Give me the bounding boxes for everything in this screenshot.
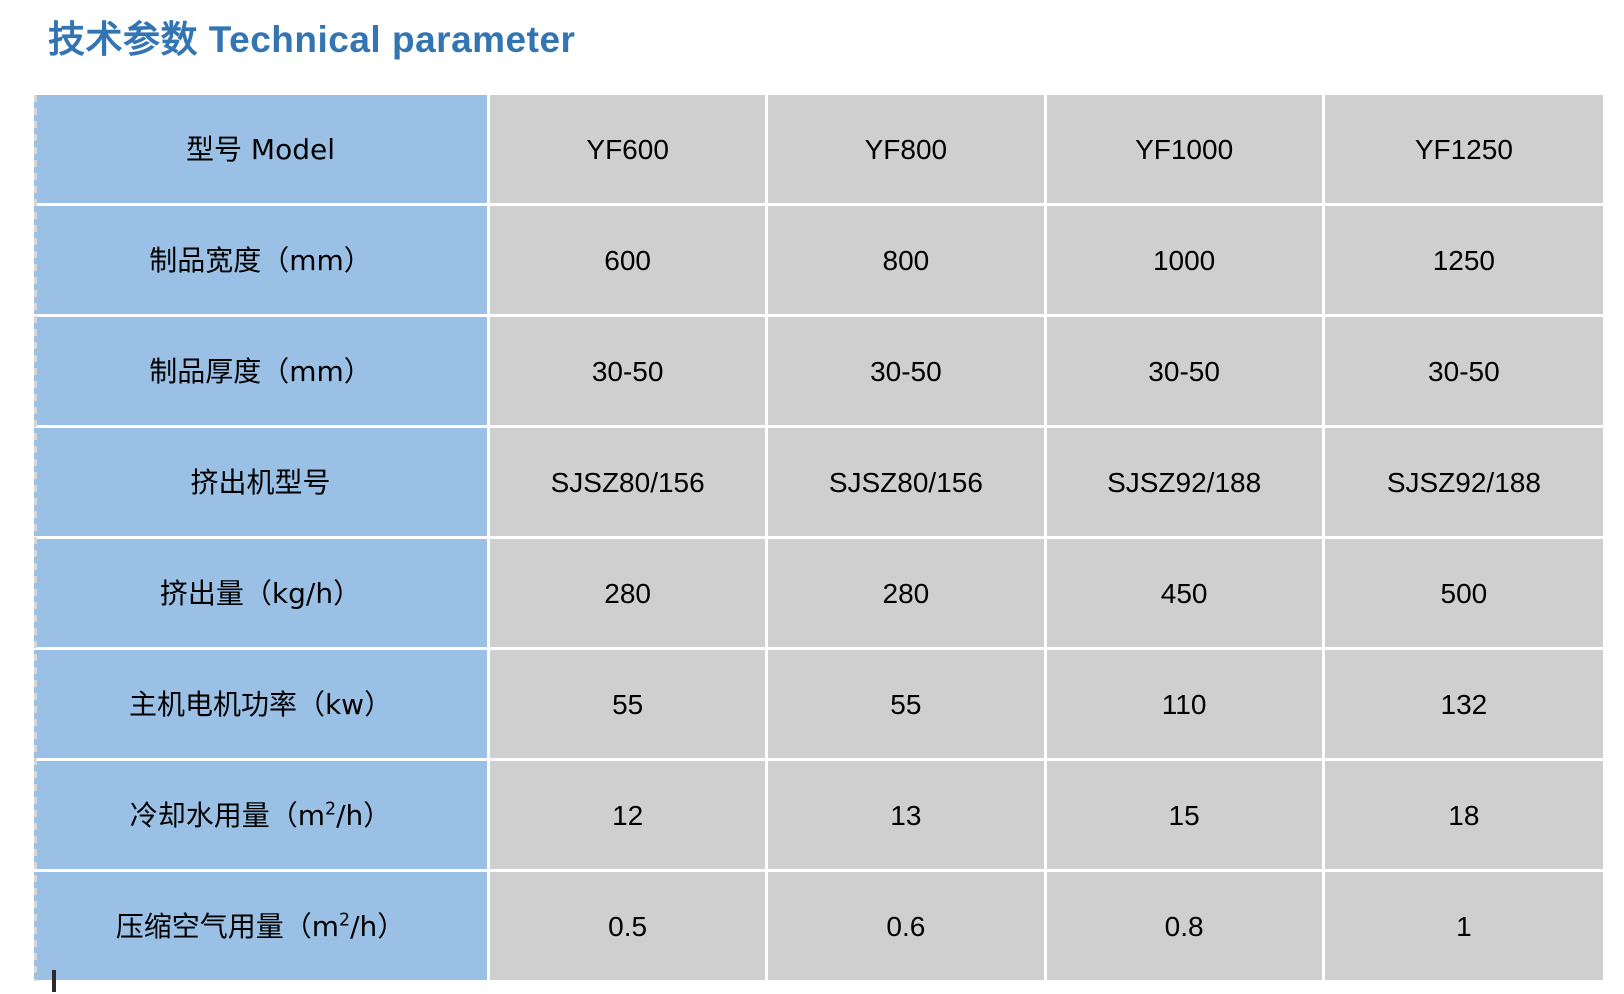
value-text: 600 <box>604 245 651 276</box>
slide-canvas: 技术参数 Technical parameter 型号 ModelYF600YF… <box>0 0 1624 994</box>
row-label-superscript: 2 <box>339 910 350 930</box>
value-text: 0.5 <box>608 911 647 942</box>
row-label-cell: 挤出量（kg/h） <box>34 539 490 650</box>
value-cell: SJSZ92/188 <box>1325 428 1603 539</box>
value-text: SJSZ80/156 <box>551 467 705 498</box>
value-cell: 280 <box>490 539 768 650</box>
table-row: 挤出机型号SJSZ80/156SJSZ80/156SJSZ92/188SJSZ9… <box>34 428 1603 539</box>
page-title: 技术参数 Technical parameter <box>48 18 575 62</box>
value-cell: SJSZ80/156 <box>768 428 1046 539</box>
value-cell: 600 <box>490 206 768 317</box>
row-label-text: 制品厚度（mm） <box>149 355 372 388</box>
value-text: 30-50 <box>1428 356 1500 387</box>
row-label-text-suffix: /h） <box>350 910 405 943</box>
value-text: 30-50 <box>1148 356 1220 387</box>
value-cell: 1250 <box>1325 206 1603 317</box>
row-label-text: 挤出机型号 <box>191 466 331 499</box>
technical-parameter-table-wrapper: 型号 ModelYF600YF800YF1000YF1250制品宽度（mm）60… <box>34 95 1603 983</box>
value-text: YF1000 <box>1135 134 1233 165</box>
row-label-cell: 型号 Model <box>34 95 490 206</box>
row-label-cell: 主机电机功率（kw） <box>34 650 490 761</box>
row-label-cell: 冷却水用量（m2/h） <box>34 761 490 872</box>
value-cell: 55 <box>490 650 768 761</box>
page-title-english: Technical parameter <box>209 19 576 60</box>
value-cell: 12 <box>490 761 768 872</box>
row-label-cell: 制品宽度（mm） <box>34 206 490 317</box>
table-body: 型号 ModelYF600YF800YF1000YF1250制品宽度（mm）60… <box>34 95 1603 983</box>
value-text: SJSZ80/156 <box>829 467 983 498</box>
table-row: 型号 ModelYF600YF800YF1000YF1250 <box>34 95 1603 206</box>
value-text: 15 <box>1169 800 1200 831</box>
value-text: 55 <box>612 689 643 720</box>
row-label-cell: 压缩空气用量（m2/h） <box>34 872 490 983</box>
value-cell: 13 <box>768 761 1046 872</box>
table-row: 制品厚度（mm）30-5030-5030-5030-50 <box>34 317 1603 428</box>
table-row: 制品宽度（mm）60080010001250 <box>34 206 1603 317</box>
row-label-superscript: 2 <box>325 799 336 819</box>
value-cell: 15 <box>1047 761 1325 872</box>
row-label-cell: 挤出机型号 <box>34 428 490 539</box>
value-text: 280 <box>604 578 651 609</box>
value-cell: 110 <box>1047 650 1325 761</box>
value-cell: 1000 <box>1047 206 1325 317</box>
table-row: 压缩空气用量（m2/h）0.50.60.81 <box>34 872 1603 983</box>
table-row: 主机电机功率（kw）5555110132 <box>34 650 1603 761</box>
placeholder-guide-line <box>34 95 37 981</box>
row-label-cell: 制品厚度（mm） <box>34 317 490 428</box>
value-cell: 30-50 <box>490 317 768 428</box>
value-cell: 30-50 <box>1047 317 1325 428</box>
value-text: 0.8 <box>1165 911 1204 942</box>
value-text: 280 <box>883 578 930 609</box>
value-cell: 1 <box>1325 872 1603 983</box>
value-cell: 55 <box>768 650 1046 761</box>
value-text: 132 <box>1441 689 1488 720</box>
value-text: 13 <box>890 800 921 831</box>
value-text: YF1250 <box>1415 134 1513 165</box>
row-label-text: 制品宽度（mm） <box>149 244 372 277</box>
cursor-tick-artifact <box>52 970 56 992</box>
technical-parameter-table: 型号 ModelYF600YF800YF1000YF1250制品宽度（mm）60… <box>34 95 1603 983</box>
value-text: 110 <box>1162 689 1207 720</box>
value-cell: 800 <box>768 206 1046 317</box>
value-text: SJSZ92/188 <box>1107 467 1261 498</box>
value-cell: 500 <box>1325 539 1603 650</box>
row-label-text-suffix: /h） <box>336 799 391 832</box>
value-cell: 18 <box>1325 761 1603 872</box>
row-label-text: 压缩空气用量（m <box>116 910 339 943</box>
value-text: 1250 <box>1433 245 1495 276</box>
value-text: 1 <box>1456 911 1472 942</box>
value-cell: SJSZ92/188 <box>1047 428 1325 539</box>
value-cell: 132 <box>1325 650 1603 761</box>
value-text: YF600 <box>586 134 669 165</box>
row-label-text: 冷却水用量（m <box>130 799 325 832</box>
value-cell: 30-50 <box>1325 317 1603 428</box>
value-text: 55 <box>890 689 921 720</box>
value-text: 500 <box>1441 578 1488 609</box>
value-text: 30-50 <box>870 356 942 387</box>
table-row: 冷却水用量（m2/h）12131518 <box>34 761 1603 872</box>
value-cell: YF1000 <box>1047 95 1325 206</box>
value-cell: SJSZ80/156 <box>490 428 768 539</box>
value-cell: 30-50 <box>768 317 1046 428</box>
value-cell: YF1250 <box>1325 95 1603 206</box>
value-text: 1000 <box>1153 245 1215 276</box>
value-text: 0.6 <box>886 911 925 942</box>
value-text: 30-50 <box>592 356 664 387</box>
value-cell: 0.5 <box>490 872 768 983</box>
row-label-text: 主机电机功率（kw） <box>129 688 392 721</box>
value-text: 12 <box>612 800 643 831</box>
value-cell: 0.8 <box>1047 872 1325 983</box>
value-text: 18 <box>1448 800 1479 831</box>
row-label-text: 挤出量（kg/h） <box>160 577 361 610</box>
value-cell: 280 <box>768 539 1046 650</box>
value-text: YF800 <box>865 134 948 165</box>
value-text: 800 <box>883 245 930 276</box>
row-label-text: 型号 Model <box>186 133 335 166</box>
value-cell: 450 <box>1047 539 1325 650</box>
table-row: 挤出量（kg/h）280280450500 <box>34 539 1603 650</box>
value-cell: YF600 <box>490 95 768 206</box>
page-title-chinese: 技术参数 <box>48 18 198 61</box>
value-text: SJSZ92/188 <box>1387 467 1541 498</box>
value-cell: YF800 <box>768 95 1046 206</box>
value-cell: 0.6 <box>768 872 1046 983</box>
value-text: 450 <box>1161 578 1208 609</box>
